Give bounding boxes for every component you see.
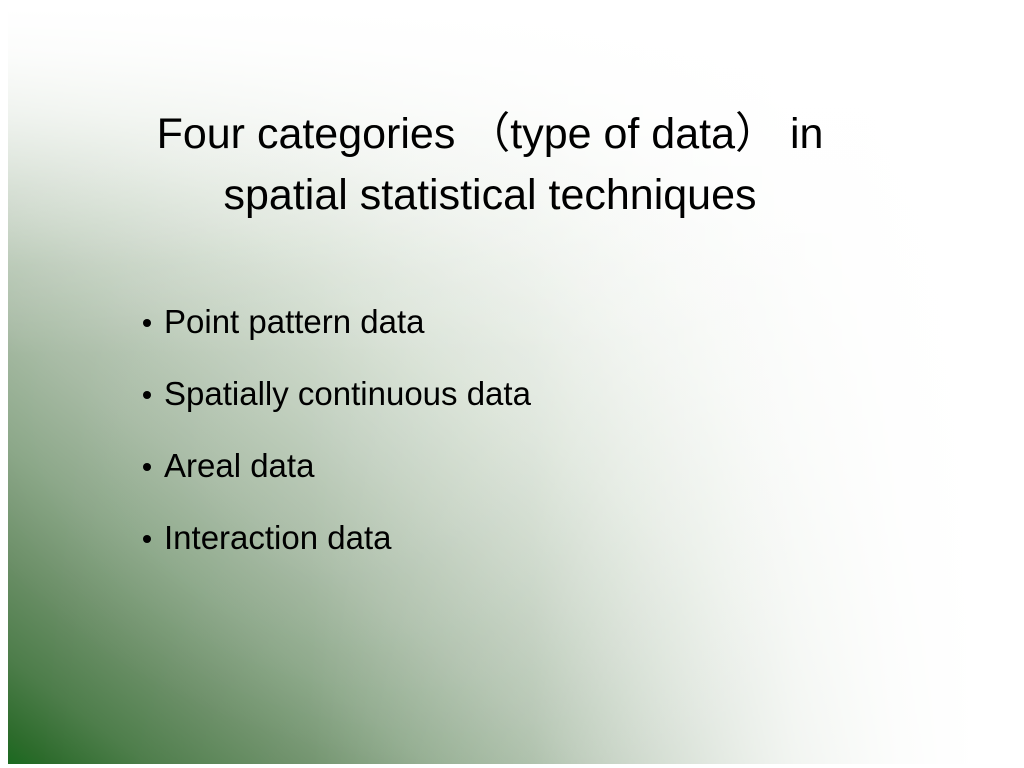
bullet-list: Point pattern data Spatially continuous … <box>140 300 840 588</box>
bullet-dot-icon <box>143 391 151 399</box>
list-item: Interaction data <box>140 516 840 588</box>
slide-title-line-2: spatial statistical techniques <box>60 165 920 226</box>
bullet-dot-icon <box>143 535 151 543</box>
bullet-dot-icon <box>143 319 151 327</box>
list-item: Point pattern data <box>140 300 840 372</box>
presentation-slide: Four categories （type of data） in spatia… <box>0 0 1024 768</box>
slide-frame: Four categories （type of data） in spatia… <box>0 0 1024 768</box>
list-item-label: Spatially continuous data <box>164 372 531 416</box>
list-item: Spatially continuous data <box>140 372 840 444</box>
list-item: Areal data <box>140 444 840 516</box>
bullet-dot-icon <box>143 463 151 471</box>
slide-title-line-1: Four categories （type of data） in <box>60 104 920 165</box>
list-item-label: Point pattern data <box>164 300 425 344</box>
list-item-label: Areal data <box>164 444 314 488</box>
slide-title: Four categories （type of data） in spatia… <box>60 104 920 226</box>
list-item-label: Interaction data <box>164 516 392 560</box>
